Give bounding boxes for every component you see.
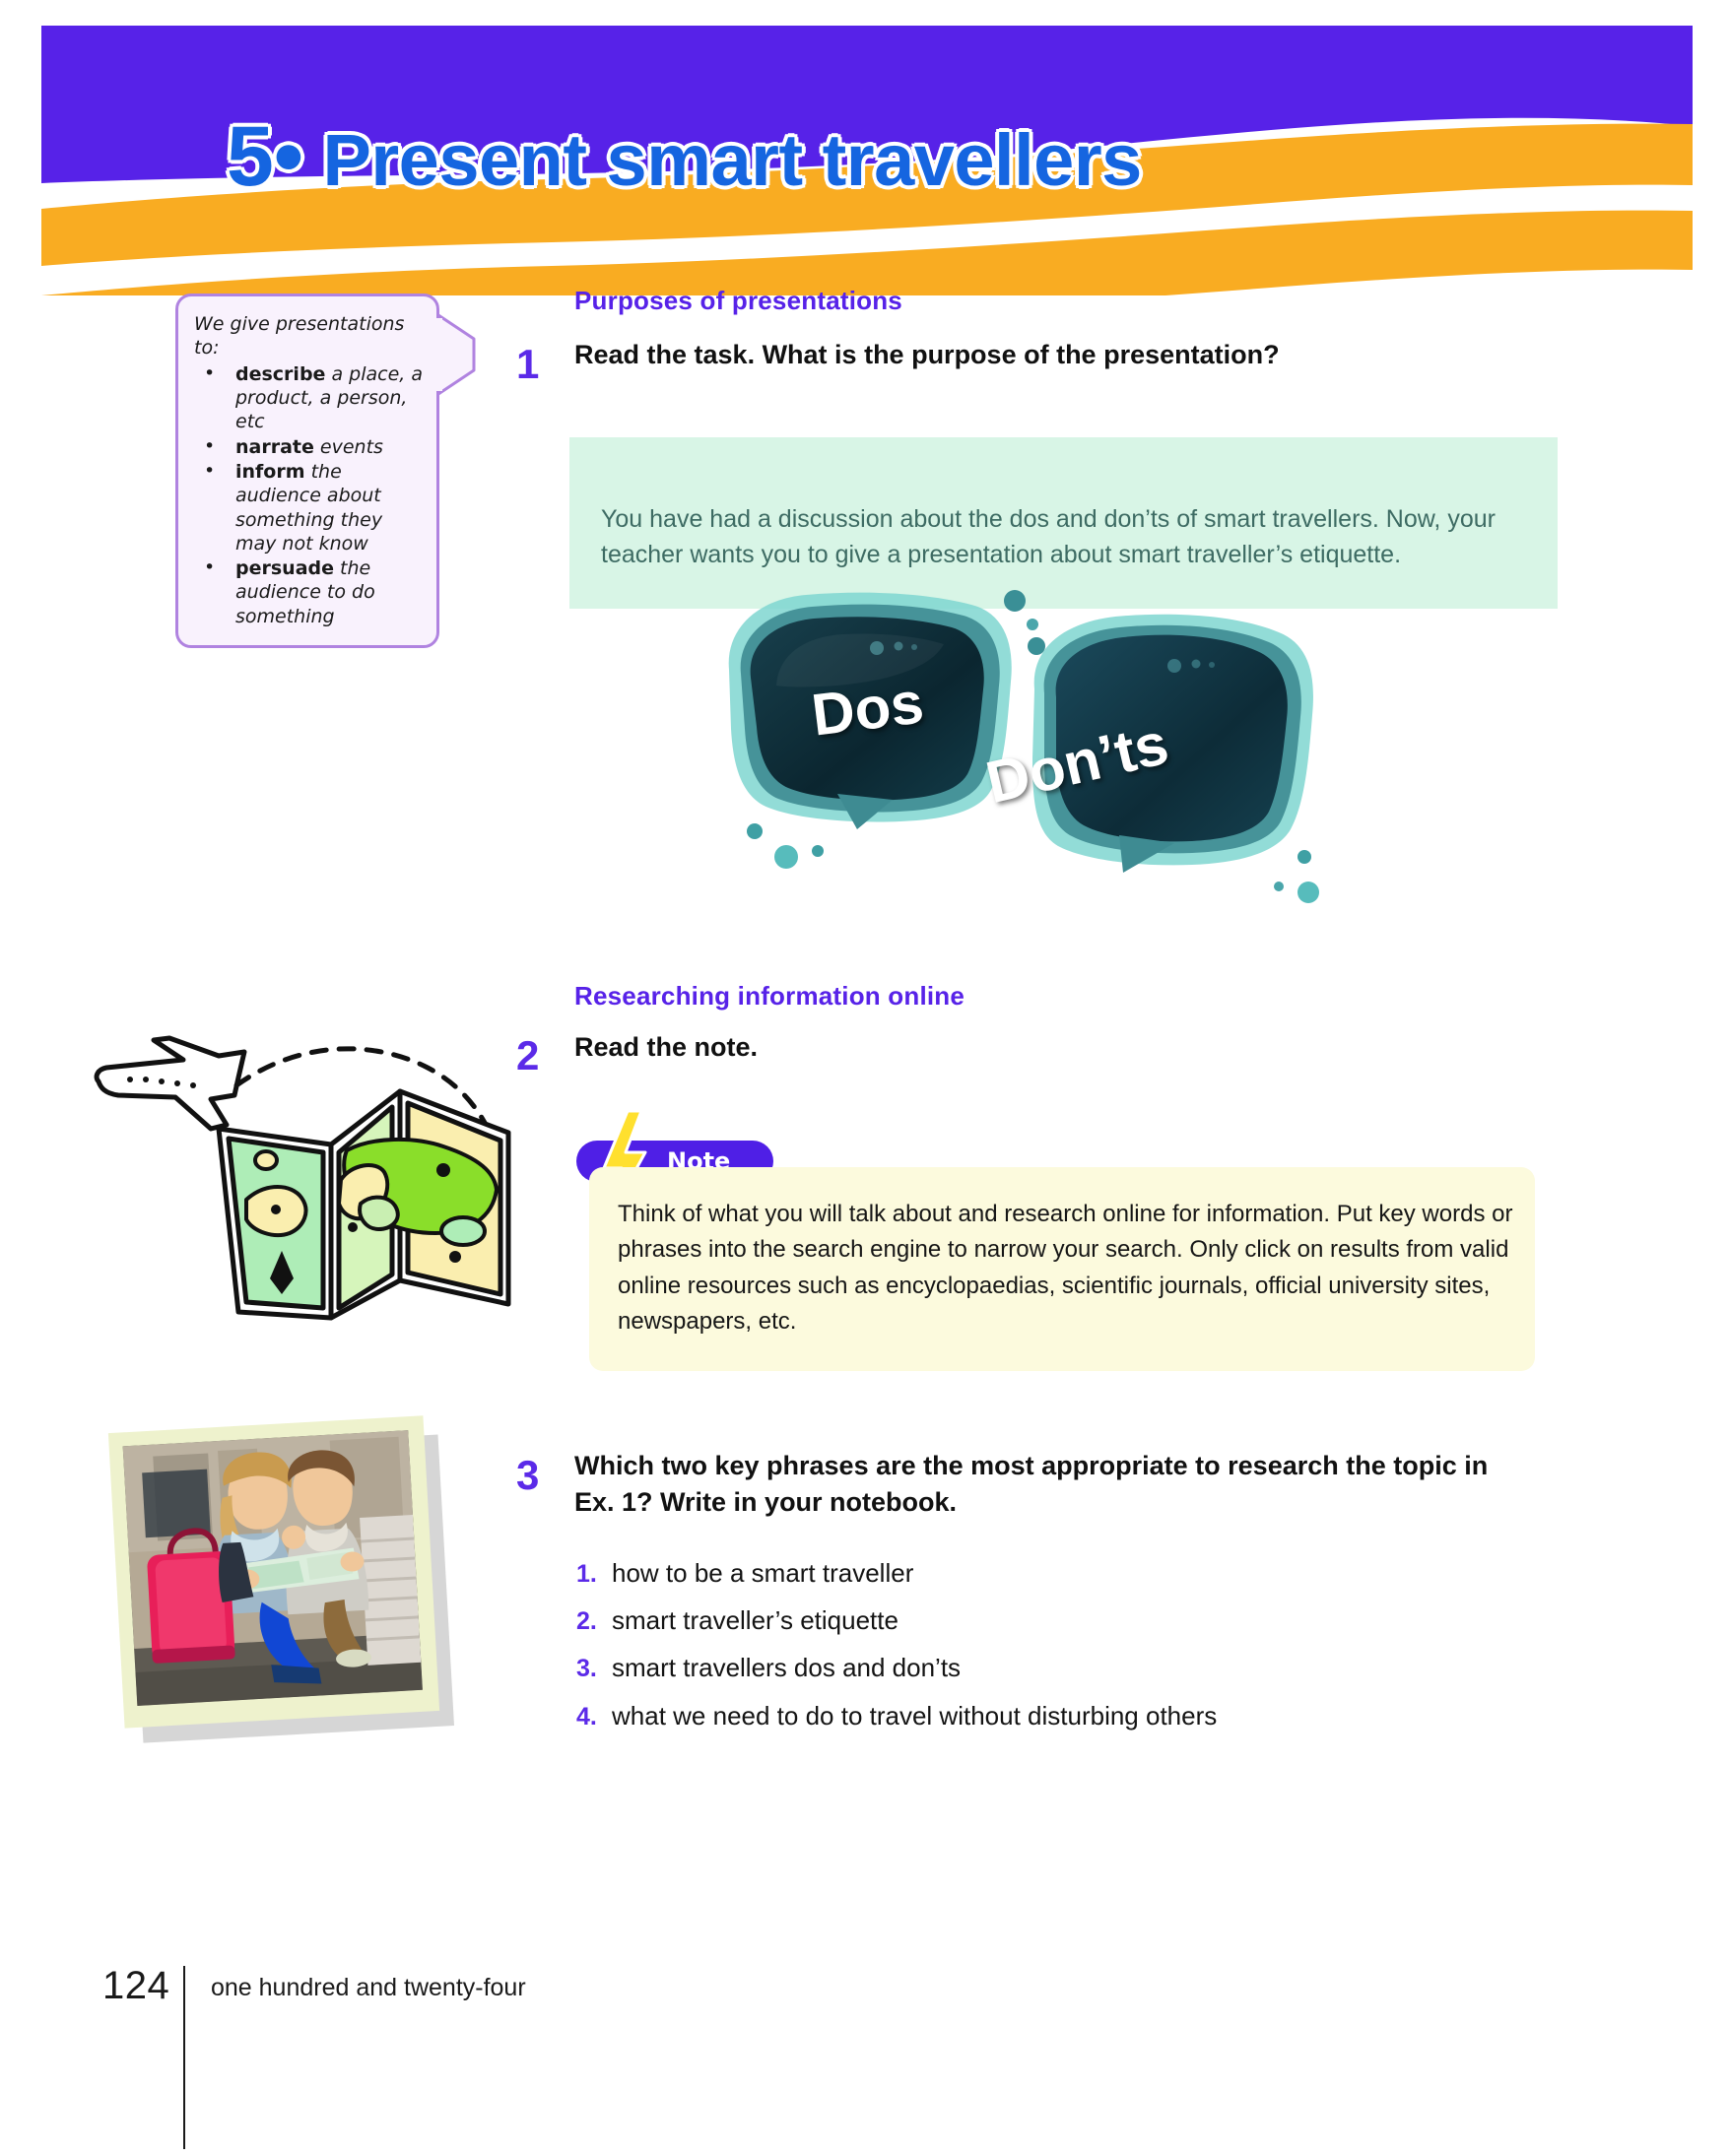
list-item[interactable]: 2. smart traveller’s etiquette xyxy=(576,1605,1463,1636)
dos-donts-illustration: Dos Don’ts xyxy=(690,571,1320,916)
list-item: inform the audience about something they… xyxy=(204,460,423,555)
callout-item-keyword: narrate xyxy=(235,436,314,458)
note-box: Think of what you will talk about and re… xyxy=(589,1167,1535,1371)
list-item[interactable]: 3. smart travellers dos and don’ts xyxy=(576,1653,1463,1683)
plane-and-map-illustration xyxy=(89,1034,542,1374)
task-box-text: You have had a discussion about the dos … xyxy=(601,501,1532,572)
list-item[interactable]: 1. how to be a smart traveller xyxy=(576,1558,1463,1589)
option-number: 2. xyxy=(576,1607,612,1636)
callout-item-keyword: persuade xyxy=(235,557,334,579)
note-box-text: Think of what you will talk about and re… xyxy=(618,1197,1516,1340)
exercise-text-3: Which two key phrases are the most appro… xyxy=(574,1448,1515,1522)
unit-title-text: Present smart travellers xyxy=(323,119,1142,201)
photo-frame xyxy=(108,1415,439,1728)
section-heading-purposes: Purposes of presentations xyxy=(574,286,902,316)
callout-item-keyword: inform xyxy=(235,461,305,483)
callout-item-rest: events xyxy=(314,436,383,458)
photo-image xyxy=(123,1430,423,1706)
option-number: 3. xyxy=(576,1655,612,1683)
page-title: 5• Present smart travellers xyxy=(227,108,1142,206)
list-item: persuade the audience to do something xyxy=(204,556,423,628)
exercise-text-2: Read the note. xyxy=(574,1029,1264,1066)
callout-item-keyword: describe xyxy=(235,363,325,385)
footer-divider xyxy=(183,1966,185,2149)
exercise-number-1: 1 xyxy=(516,344,539,385)
page-banner: 5• Present smart travellers xyxy=(0,0,1730,295)
option-label: smart traveller’s etiquette xyxy=(612,1605,898,1636)
callout-lead: We give presentations to: xyxy=(194,312,423,360)
option-number: 1. xyxy=(576,1560,612,1589)
page-number-words: one hundred and twenty-four xyxy=(211,1974,526,2002)
exercise-text-1: Read the task. What is the purpose of th… xyxy=(574,337,1520,373)
option-label: what we need to do to travel without dis… xyxy=(612,1701,1217,1731)
list-item: narrate events xyxy=(204,435,423,459)
option-number: 4. xyxy=(576,1703,612,1731)
airplane-icon xyxy=(97,1038,244,1129)
callout-list: describe a place, a product, a person, e… xyxy=(194,362,423,628)
list-item[interactable]: 4. what we need to do to travel without … xyxy=(576,1701,1463,1731)
page-number: 124 xyxy=(102,1964,169,2008)
unit-number: 5 xyxy=(227,109,274,204)
presentation-purposes-callout: We give presentations to: describe a pla… xyxy=(175,294,439,648)
callout-tail-icon xyxy=(436,313,486,396)
dos-label: Dos xyxy=(808,668,927,749)
travellers-photo xyxy=(108,1415,439,1728)
option-label: smart travellers dos and don’ts xyxy=(612,1653,961,1683)
unit-dot: • xyxy=(274,109,303,204)
list-item: describe a place, a product, a person, e… xyxy=(204,362,423,434)
option-label: how to be a smart traveller xyxy=(612,1558,913,1589)
exercise-number-3: 3 xyxy=(516,1455,539,1496)
section-heading-researching: Researching information online xyxy=(574,981,965,1012)
key-phrase-options-list: 1. how to be a smart traveller 2. smart … xyxy=(576,1558,1463,1748)
